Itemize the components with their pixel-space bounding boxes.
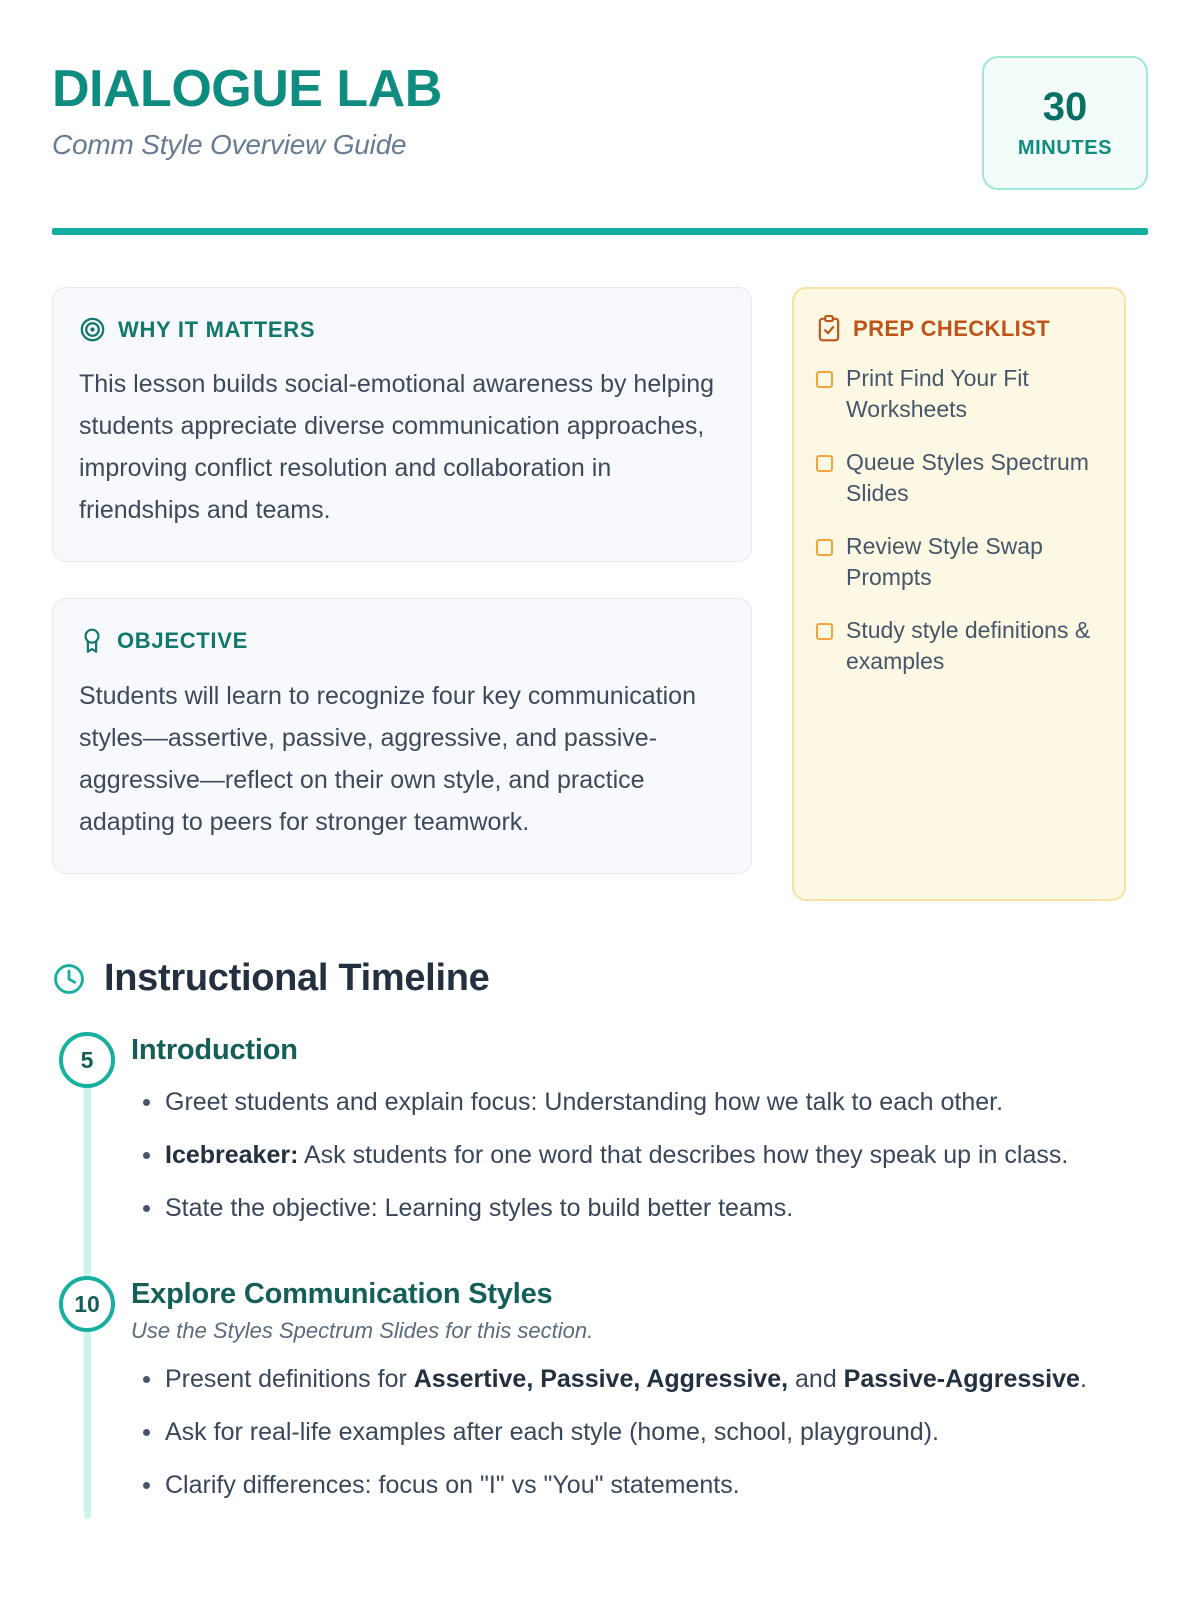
objective-header: OBJECTIVE: [79, 627, 725, 655]
prep-checklist-header: PREP CHECKLIST: [816, 315, 1102, 343]
checklist-item[interactable]: Print Find Your Fit Worksheets: [816, 363, 1102, 425]
right-column: PREP CHECKLIST Print Find Your Fit Works…: [792, 287, 1126, 901]
prep-checklist-card: PREP CHECKLIST Print Find Your Fit Works…: [792, 287, 1126, 901]
checklist-item[interactable]: Review Style Swap Prompts: [816, 531, 1102, 593]
checklist-item[interactable]: Study style definitions & examples: [816, 615, 1102, 677]
list-item: Greet students and explain focus: Unders…: [131, 1083, 1148, 1122]
list-item: Clarify differences: focus on "I" vs "Yo…: [131, 1466, 1148, 1505]
list-item: Ask for real-life examples after each st…: [131, 1413, 1148, 1452]
checklist-item-label: Study style definitions & examples: [846, 615, 1102, 677]
timeline-item-title: Explore Communication Styles: [131, 1278, 1148, 1311]
page-subtitle: Comm Style Overview Guide: [52, 129, 442, 161]
timeline-title: Instructional Timeline: [104, 957, 489, 1000]
title-block: DIALOGUE LAB Comm Style Overview Guide: [52, 52, 442, 161]
list-item: Icebreaker: Ask students for one word th…: [131, 1136, 1148, 1175]
header-divider: [52, 228, 1148, 235]
why-it-matters-label: WHY IT MATTERS: [118, 317, 315, 343]
why-it-matters-header: WHY IT MATTERS: [79, 316, 725, 343]
timeline-item-bullets: Greet students and explain focus: Unders…: [131, 1083, 1148, 1228]
clock-icon: [52, 962, 86, 996]
timeline-minutes-badge: 10: [59, 1276, 115, 1332]
timeline-item-content: Explore Communication Styles Use the Sty…: [131, 1276, 1148, 1519]
timeline-header: Instructional Timeline: [52, 957, 1148, 1000]
checkbox-icon[interactable]: [816, 371, 833, 388]
timeline-minutes-badge: 5: [59, 1032, 115, 1088]
timeline-item-note: Use the Styles Spectrum Slides for this …: [131, 1318, 1148, 1344]
timeline-minutes-value: 10: [74, 1291, 100, 1318]
objective-body: Students will learn to recognize four ke…: [79, 675, 725, 843]
timeline-item-bullets: Present definitions for Assertive, Passi…: [131, 1360, 1148, 1505]
list-item: Present definitions for Assertive, Passi…: [131, 1360, 1148, 1399]
duration-badge: 30 MINUTES: [982, 56, 1148, 190]
checklist-item[interactable]: Queue Styles Spectrum Slides: [816, 447, 1102, 509]
duration-unit: MINUTES: [1018, 137, 1112, 160]
lesson-plan-page: DIALOGUE LAB Comm Style Overview Guide 3…: [0, 0, 1200, 1600]
left-column: WHY IT MATTERS This lesson builds social…: [52, 287, 752, 901]
timeline-list: 5 Introduction Greet students and explai…: [52, 1032, 1148, 1519]
objective-label: OBJECTIVE: [117, 628, 248, 654]
award-ribbon-icon: [79, 627, 105, 655]
content-columns: WHY IT MATTERS This lesson builds social…: [52, 287, 1148, 901]
timeline-minutes-value: 5: [81, 1047, 94, 1074]
prep-checklist-label: PREP CHECKLIST: [853, 316, 1050, 342]
why-it-matters-body: This lesson builds social-emotional awar…: [79, 363, 725, 531]
timeline-item: 5 Introduction Greet students and explai…: [52, 1032, 1148, 1242]
why-it-matters-card: WHY IT MATTERS This lesson builds social…: [52, 287, 752, 562]
page-title: DIALOGUE LAB: [52, 62, 442, 117]
target-icon: [79, 316, 106, 343]
timeline-item-content: Introduction Greet students and explain …: [131, 1032, 1148, 1242]
instructional-timeline-section: Instructional Timeline 5 Introduction Gr…: [52, 957, 1148, 1519]
checkbox-icon[interactable]: [816, 455, 833, 472]
timeline-item: 10 Explore Communication Styles Use the …: [52, 1276, 1148, 1519]
list-item: State the objective: Learning styles to …: [131, 1189, 1148, 1228]
timeline-item-title: Introduction: [131, 1034, 1148, 1067]
checklist-item-label: Queue Styles Spectrum Slides: [846, 447, 1102, 509]
checkbox-icon[interactable]: [816, 623, 833, 640]
checklist-item-label: Print Find Your Fit Worksheets: [846, 363, 1102, 425]
clipboard-check-icon: [816, 315, 842, 343]
duration-value: 30: [1043, 87, 1088, 127]
checkbox-icon[interactable]: [816, 539, 833, 556]
checklist-item-label: Review Style Swap Prompts: [846, 531, 1102, 593]
document-header: DIALOGUE LAB Comm Style Overview Guide 3…: [52, 52, 1148, 190]
objective-card: OBJECTIVE Students will learn to recogni…: [52, 598, 752, 874]
